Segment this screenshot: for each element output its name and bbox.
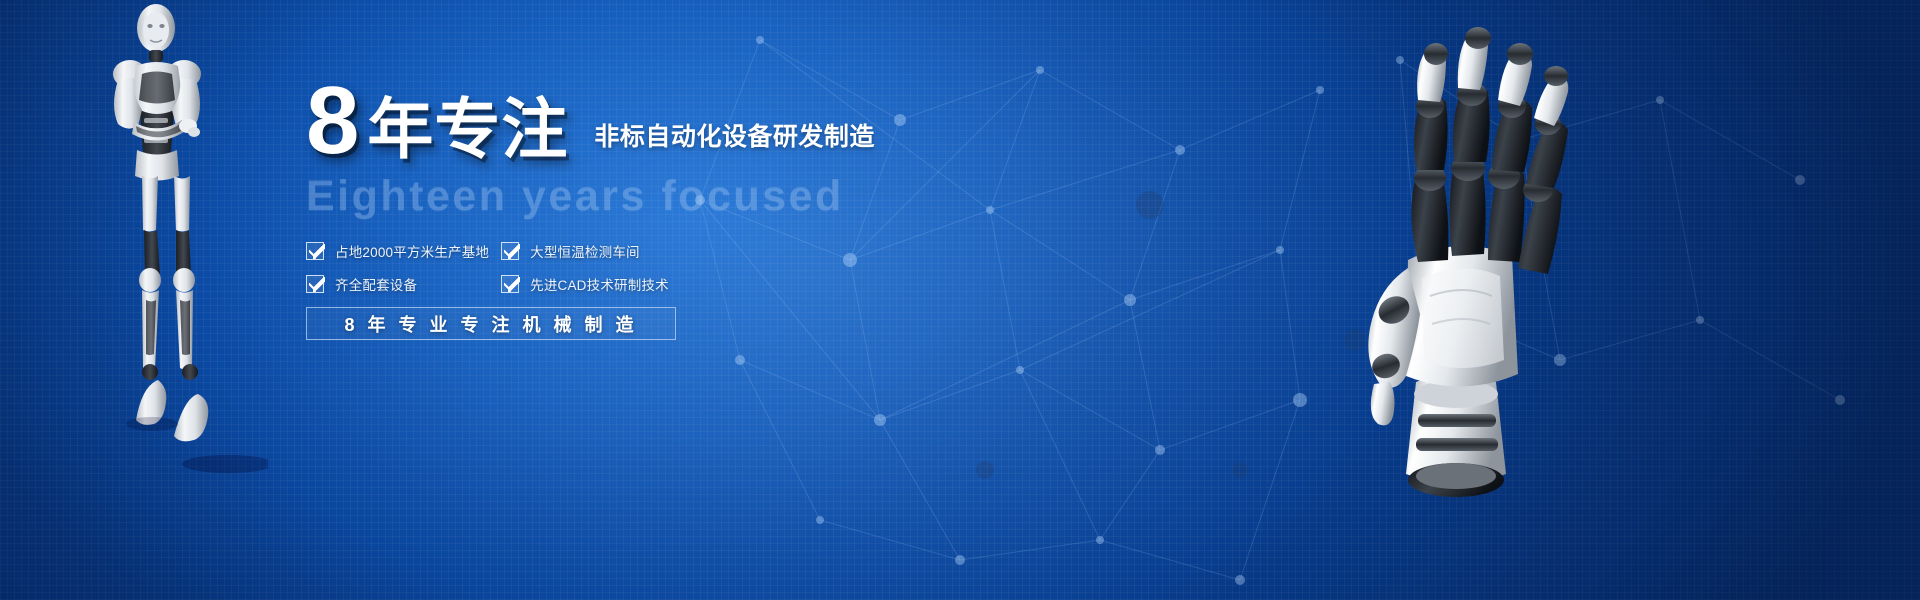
feature-list: 占地2000平方米生产基地 大型恒温检测车间 齐全配套设备 先进CAD技术研制技…: [306, 241, 706, 294]
feature-label: 齐全配套设备: [335, 274, 417, 294]
headline-row: 8 年专注 非标自动化设备研发制造: [306, 74, 1066, 166]
robotic-hand-image: [1290, 10, 1620, 510]
checkbox-checked-icon: [306, 242, 324, 260]
cta-box[interactable]: 8 年 专 业 专 注 机 械 制 造: [306, 307, 676, 340]
humanoid-robot-image: [78, 0, 268, 490]
english-tagline: Eighteen years focused: [306, 172, 1066, 221]
hero-banner: 8 年专注 非标自动化设备研发制造 Eighteen years focused…: [0, 0, 1920, 600]
years-number: 8: [306, 76, 357, 166]
checkbox-checked-icon: [501, 275, 519, 293]
banner-content: 8 年专注 非标自动化设备研发制造 Eighteen years focused…: [306, 74, 1066, 340]
headline-subtitle: 非标自动化设备研发制造: [594, 117, 875, 153]
feature-row: 占地2000平方米生产基地 大型恒温检测车间: [306, 241, 706, 261]
checkbox-checked-icon: [501, 242, 519, 260]
feature-item: 先进CAD技术研制技术: [501, 274, 706, 294]
feature-item: 大型恒温检测车间: [501, 241, 706, 261]
feature-label: 占地2000平方米生产基地: [335, 241, 489, 261]
feature-item: 齐全配套设备: [306, 274, 501, 294]
feature-label: 大型恒温检测车间: [530, 241, 640, 261]
feature-item: 占地2000平方米生产基地: [306, 241, 501, 261]
feature-label: 先进CAD技术研制技术: [530, 274, 669, 294]
headline-chinese: 年专注: [367, 96, 568, 162]
cta-label: 8 年 专 业 专 注 机 械 制 造: [344, 311, 637, 337]
checkbox-checked-icon: [306, 275, 324, 293]
feature-row: 齐全配套设备 先进CAD技术研制技术: [306, 274, 706, 294]
